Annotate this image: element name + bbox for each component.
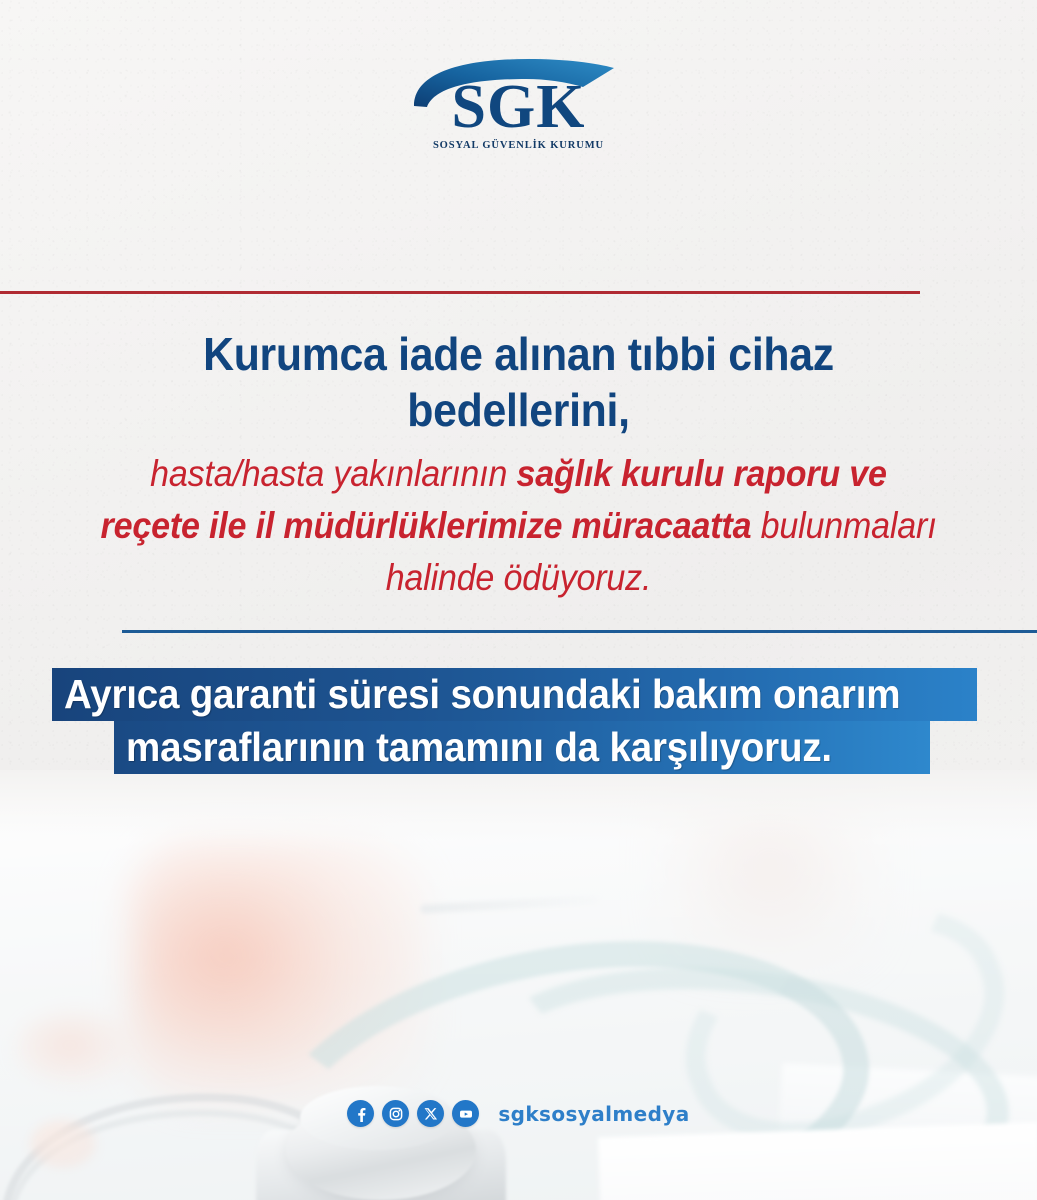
divider-blue [122,630,1037,633]
facebook-icon[interactable] [347,1100,374,1127]
logo-inner: SGK SOSYAL GÜVENLİK KURUMU [414,56,624,164]
logo-subtitle: SOSYAL GÜVENLİK KURUMU [414,140,624,151]
page-title: Kurumca iade alınan tıbbi cihaz bedeller… [92,326,945,438]
highlight-banner: Ayrıca garanti süresi sonundaki bakım on… [0,668,1037,774]
instagram-icon[interactable] [382,1100,409,1127]
divider-red [0,291,920,294]
banner-line-2-text: masraflarının tamamını da karşılıyoruz. [126,721,832,774]
body-paragraph: hasta/hasta yakınlarının sağlık kurulu r… [97,448,941,604]
social-handle[interactable]: sgksosyalmedya [498,1102,689,1126]
banner-line-1-text: Ayrıca garanti süresi sonundaki bakım on… [64,668,900,721]
x-twitter-icon[interactable] [417,1100,444,1127]
poster-canvas: SGK SOSYAL GÜVENLİK KURUMU Kurumca iade … [0,0,1037,1200]
sgk-logo: SGK SOSYAL GÜVENLİK KURUMU [0,56,1037,169]
banner-line-1: Ayrıca garanti süresi sonundaki bakım on… [52,668,977,721]
photo-top-fade [0,770,1037,840]
body-part-1: hasta/hasta yakınlarının [150,453,516,494]
youtube-icon[interactable] [452,1100,479,1127]
medical-background-photo [0,770,1037,1200]
social-footer: sgksosyalmedya [0,1100,1037,1127]
logo-wordmark: SGK [414,76,624,138]
banner-line-2: masraflarının tamamını da karşılıyoruz. [114,721,930,774]
